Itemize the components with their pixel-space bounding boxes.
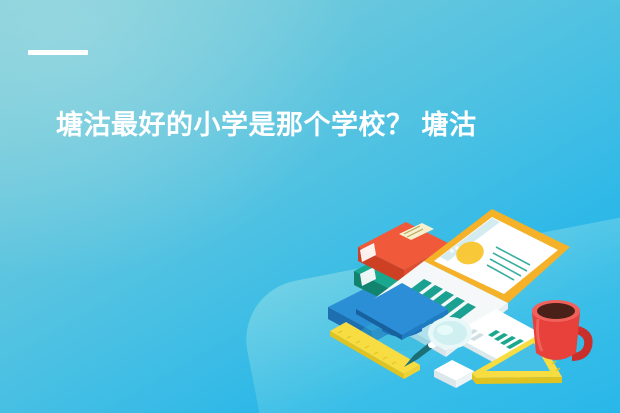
coffee-mug-icon — [532, 300, 593, 361]
page-title: 塘沽最好的小学是那个学校？ 塘沽 — [56, 106, 596, 144]
education-illustration — [300, 195, 620, 413]
banner: 塘沽最好的小学是那个学校？ 塘沽 — [0, 0, 620, 413]
title-divider — [28, 50, 88, 55]
eraser-icon — [434, 360, 474, 388]
